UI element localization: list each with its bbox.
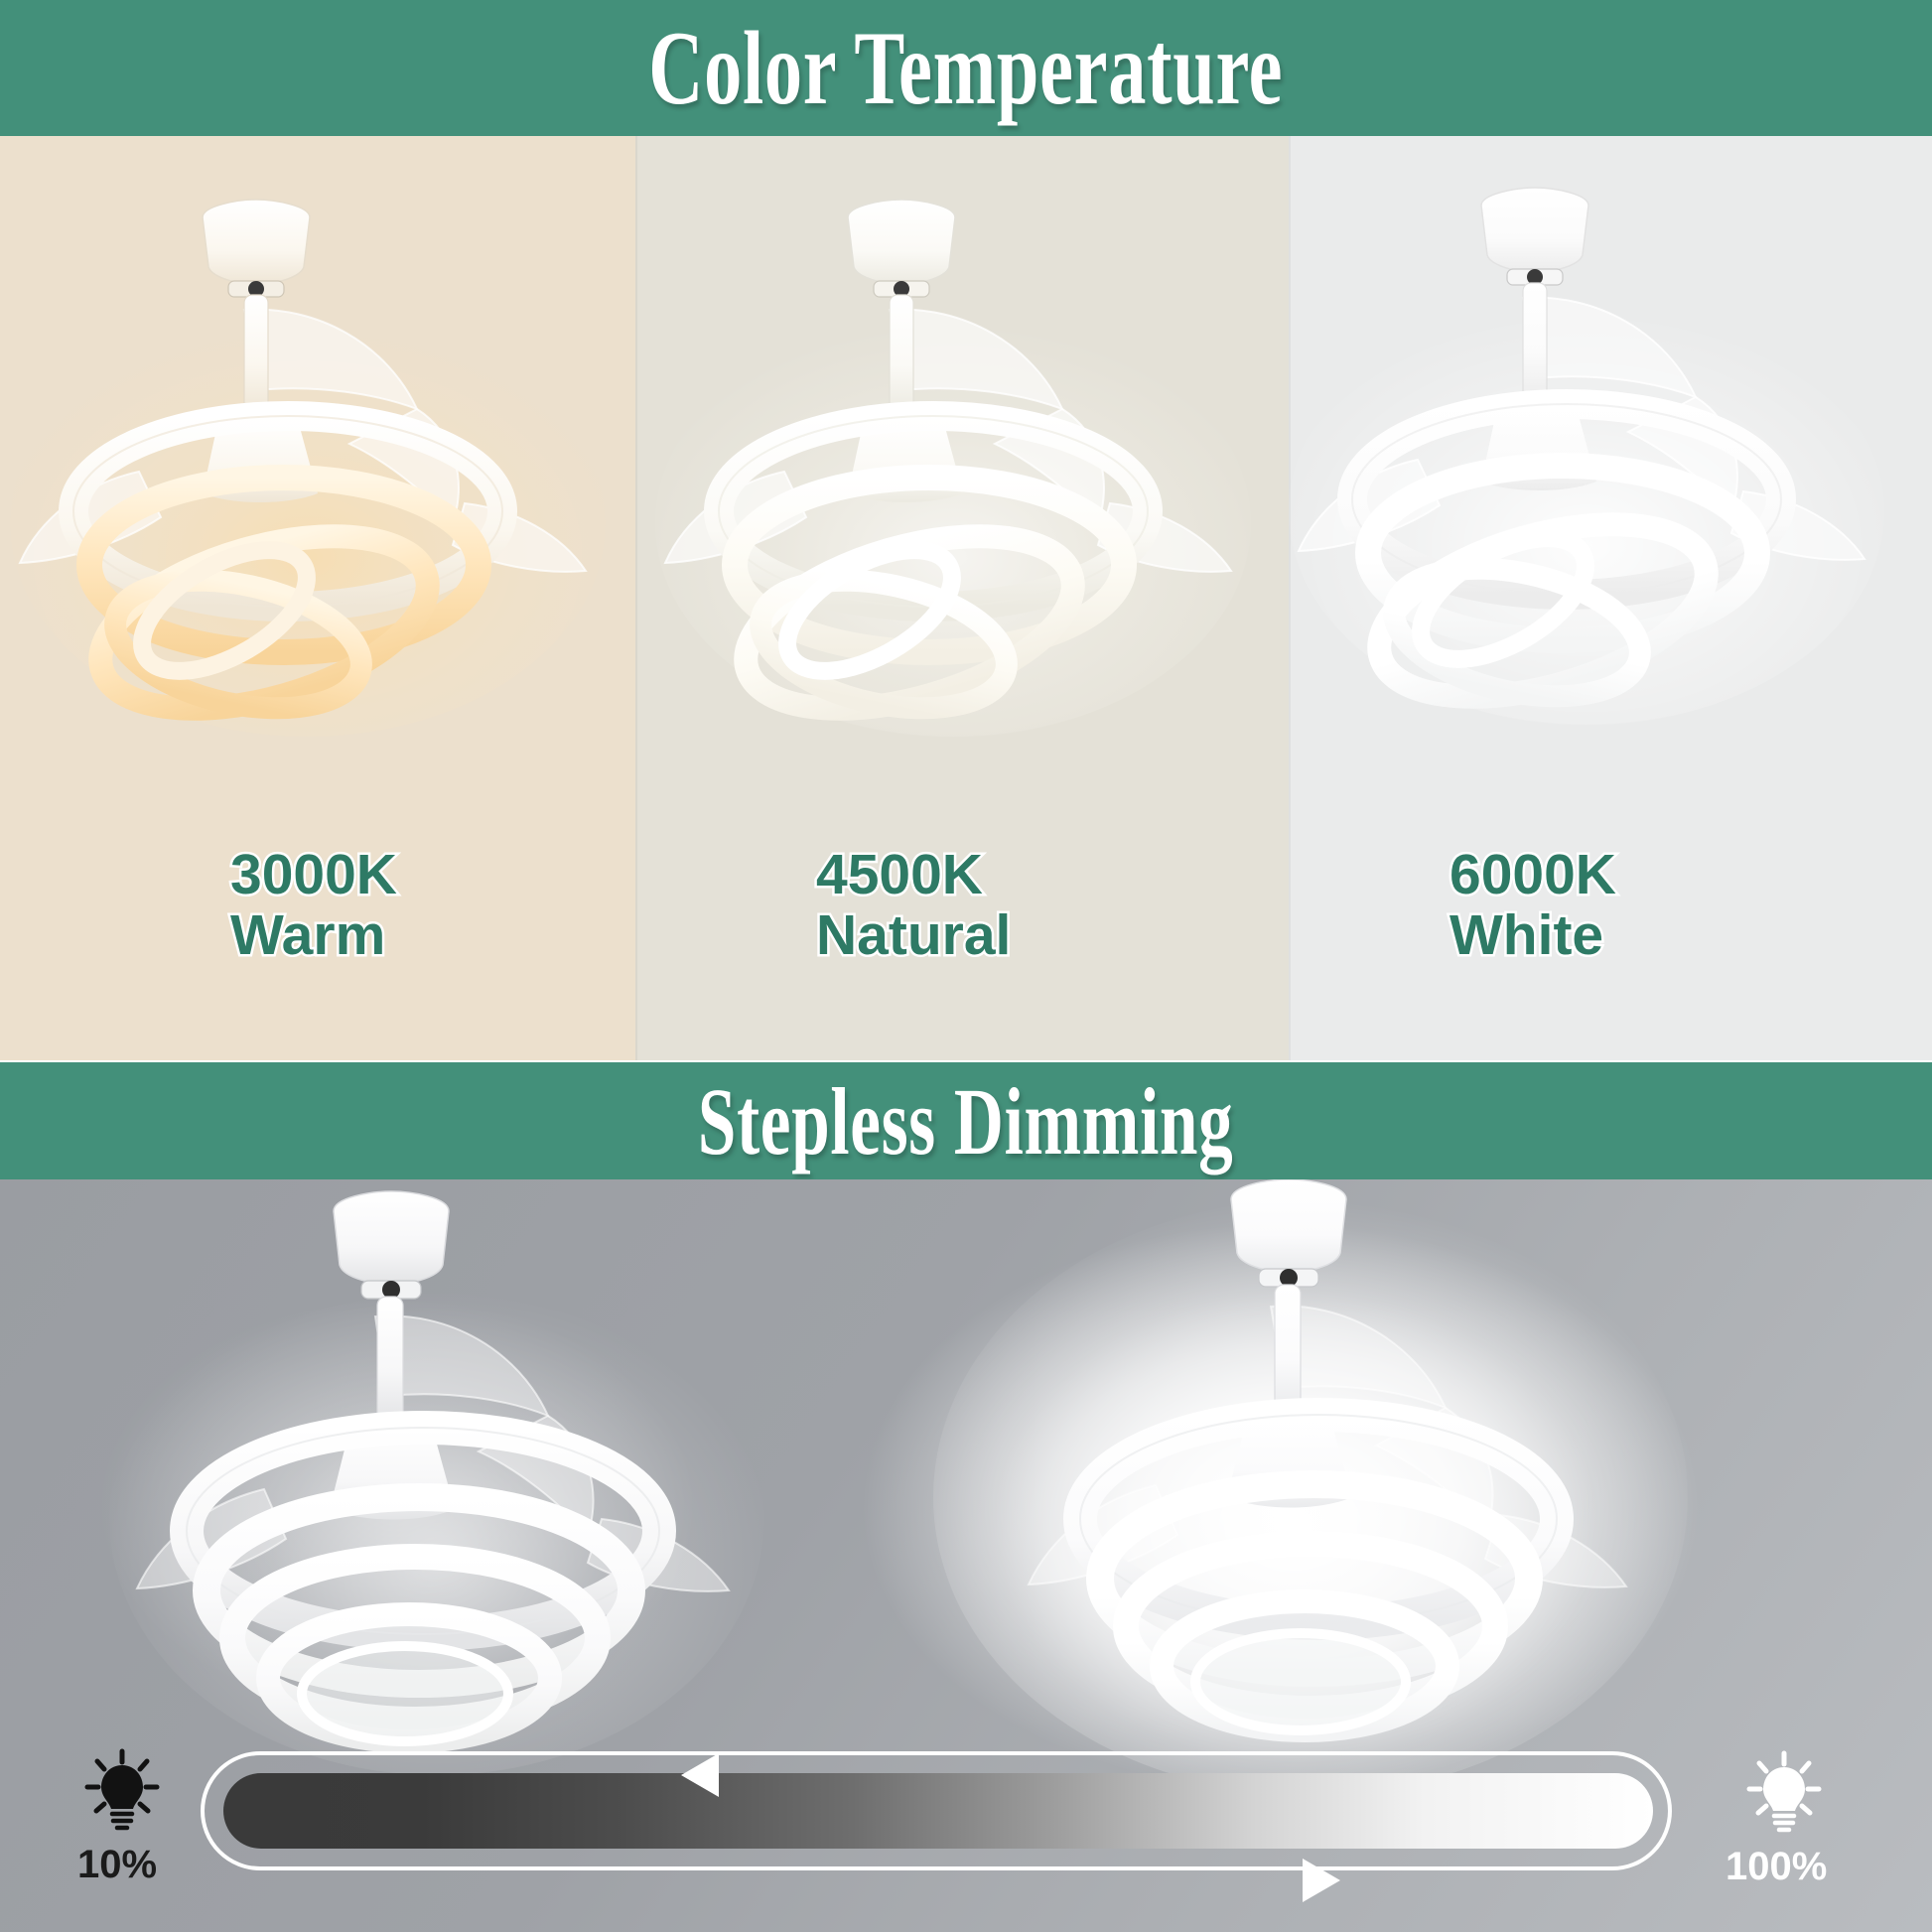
caption-4500k: 4500K Natural (816, 845, 1011, 965)
caption-name-white: White (1449, 905, 1616, 965)
banner-title-color-temperature: Color Temperature (648, 8, 1283, 129)
ceiling-fan-warm (0, 196, 625, 752)
arrow-right-icon (1303, 1859, 1340, 1902)
dimming-min-label: 10% (77, 1843, 157, 1887)
caption-3000k: 3000K Warm (230, 845, 397, 965)
ceiling-fan-white (1289, 184, 1914, 740)
color-temperature-panel-6000k[interactable]: 6000K White (1289, 136, 1932, 1060)
ceiling-fan-bright-100 (943, 1179, 1718, 1775)
dimming-max-label: 100% (1725, 1845, 1827, 1889)
caption-name-natural: Natural (816, 905, 1011, 965)
caption-name-warm: Warm (230, 905, 397, 965)
stepless-dimming-section: 10% (0, 1179, 1932, 1932)
lightbulb-dim-icon (81, 1747, 163, 1838)
ceiling-fan-dim-10 (60, 1179, 814, 1785)
lightbulb-bright-icon (1743, 1749, 1825, 1840)
dimming-slider-gradient[interactable] (223, 1773, 1653, 1849)
color-temperature-panel-4500k[interactable]: 4500K Natural (635, 136, 1289, 1060)
dimming-slider[interactable]: 10% (0, 1735, 1932, 1924)
infographic-page: Color Temperature (0, 0, 1932, 1932)
caption-kelvin-4500k: 4500K (816, 845, 1011, 904)
caption-kelvin-6000k: 6000K (1449, 845, 1616, 904)
ceiling-fan-natural (635, 196, 1281, 752)
banner-title-stepless-dimming: Stepless Dimming (698, 1066, 1234, 1176)
caption-kelvin-3000k: 3000K (230, 845, 397, 904)
arrow-left-icon (681, 1753, 719, 1797)
banner-color-temperature: Color Temperature (0, 0, 1932, 136)
banner-stepless-dimming: Stepless Dimming (0, 1062, 1932, 1179)
caption-6000k: 6000K White (1449, 845, 1616, 965)
color-temperature-panel-3000k[interactable]: 3000K Warm (0, 136, 635, 1060)
color-temperature-row: 3000K Warm (0, 136, 1932, 1060)
